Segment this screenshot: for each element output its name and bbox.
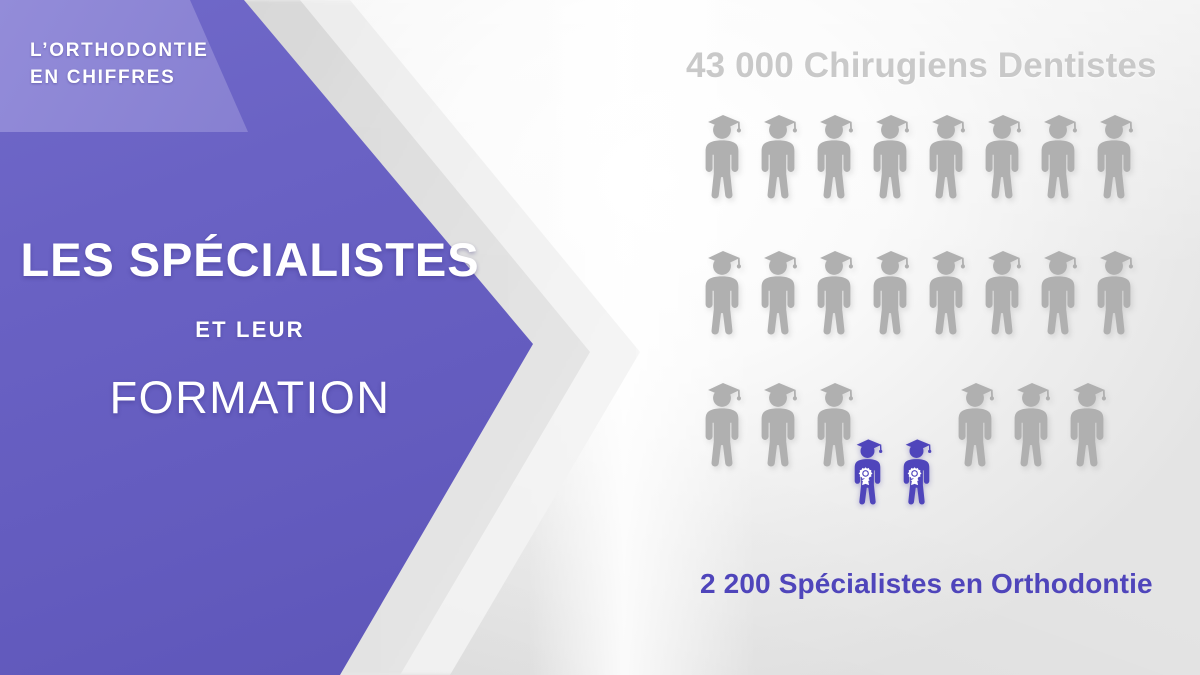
pictogram-figure-dentist	[697, 248, 747, 335]
pictogram-figure-dentist	[1033, 248, 1083, 335]
pictogram-figure-dentist	[753, 112, 803, 199]
pictogram-figure-dentist	[1033, 112, 1083, 199]
pictogram-figure-dentist	[809, 112, 859, 199]
pictogram-figure-dentist	[809, 248, 859, 335]
pictogram-figure-dentist	[865, 112, 915, 199]
pictogram-figure-dentist	[697, 380, 747, 467]
pictogram-figure-dentist	[753, 380, 803, 467]
pictogram-figure-dentist	[1089, 248, 1139, 335]
pictogram-figure-dentist	[1062, 380, 1112, 467]
pictogram-figure-dentist	[977, 248, 1027, 335]
pictogram-figure-specialist	[897, 437, 936, 505]
pictogram-figure-dentist	[977, 112, 1027, 199]
pictogram-figure-dentist	[1006, 380, 1056, 467]
infographic-canvas: L’ORTHODONTIE EN CHIFFRES LES SPÉCIALIST…	[0, 0, 1200, 675]
pictogram-figure-specialist	[848, 437, 887, 505]
pictogram-figure-dentist	[921, 248, 971, 335]
pictogram-figure-dentist	[950, 380, 1000, 467]
pictogram-chart	[0, 0, 1200, 675]
pictogram-figure-dentist	[865, 248, 915, 335]
pictogram-figure-dentist	[697, 112, 747, 199]
pictogram-figure-dentist	[921, 112, 971, 199]
pictogram-figure-dentist	[753, 248, 803, 335]
pictogram-figure-dentist	[1089, 112, 1139, 199]
